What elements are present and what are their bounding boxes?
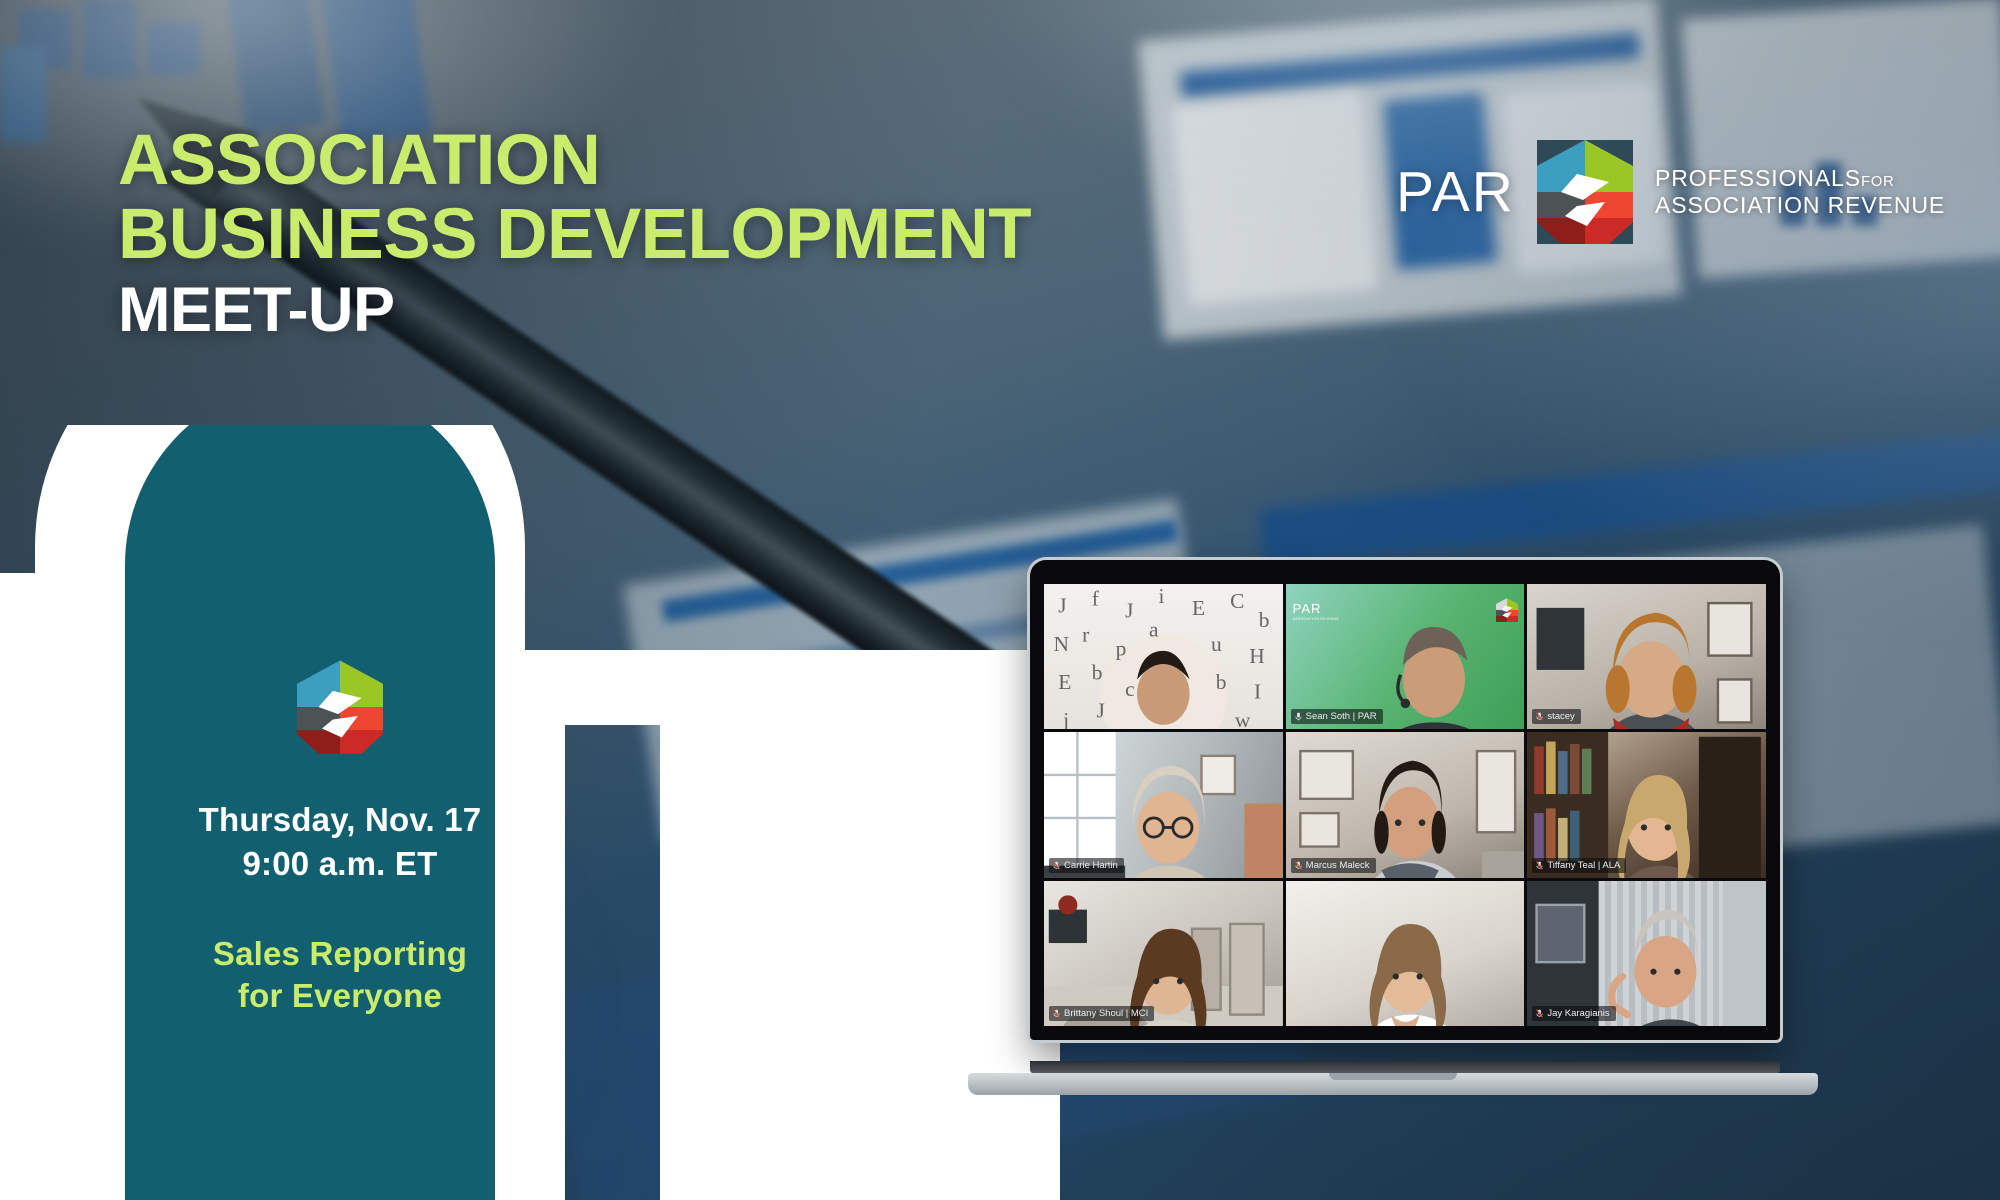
participant-tile[interactable]: Carrie Hartin (1044, 732, 1283, 877)
participant-name: Sean Soth | PAR (1306, 711, 1377, 722)
participant-name-label: Brittany Shoul | MCI (1049, 1006, 1154, 1021)
participant-tile[interactable]: Tiffany Teal | ALA (1527, 732, 1766, 877)
headline-line-3: MEET-UP (118, 279, 1031, 341)
bg-chart-bar (148, 22, 200, 74)
svg-text:J: J (1097, 699, 1105, 723)
bg-spreadsheet-header (1180, 32, 1641, 98)
par-logo-header: PAR PROFESSIONALSFOR ASSOCIATION REVENUE (1396, 140, 1945, 244)
laptop-lid: JfJi ECb Nrpa uH EbcbI jJw Pg (1030, 560, 1780, 1040)
par-tagline: PROFESSIONALSFOR ASSOCIATION REVENUE (1655, 165, 1945, 219)
svg-text:b: b (1092, 660, 1103, 684)
participant-video (1044, 732, 1283, 877)
svg-text:C: C (1230, 589, 1244, 613)
video-meeting-grid: JfJi ECb Nrpa uH EbcbI jJw Pg (1044, 584, 1766, 1026)
laptop-hinge (1030, 1061, 1780, 1073)
participant-name-label: Sean Soth | PAR (1291, 709, 1383, 724)
participant-video (1527, 732, 1766, 877)
svg-text:H: H (1249, 644, 1265, 668)
par-cube-logo-icon (1537, 140, 1633, 244)
participant-tile[interactable]: JfJi ECb Nrpa uH EbcbI jJw Pg (1044, 584, 1283, 729)
participant-name: stacey (1547, 711, 1574, 722)
bg-spreadsheet-header (1259, 430, 2000, 567)
svg-text:J: J (1125, 598, 1133, 622)
bg-chart-bar (84, 0, 136, 78)
laptop-base (968, 1073, 1818, 1095)
microphone-icon (1295, 712, 1302, 721)
participant-name-label: Jay Karagianis (1532, 1006, 1615, 1021)
participant-name: Jay Karagianis (1547, 1008, 1609, 1019)
svg-text:N: N (1054, 632, 1070, 656)
participant-name: Marcus Maleck (1306, 860, 1370, 871)
participant-tile[interactable]: Brittany Shoul | MCI (1044, 881, 1283, 1026)
svg-text:a: a (1149, 618, 1159, 642)
par-wordmark: PAR (1396, 164, 1515, 221)
participant-name-label: Carrie Hartin (1049, 858, 1124, 873)
participant-video (1527, 584, 1766, 729)
svg-text:E: E (1192, 596, 1205, 620)
microphone-muted-icon (1536, 1009, 1543, 1018)
microphone-muted-icon (1536, 712, 1543, 721)
event-time: 9:00 a.m. ET (105, 842, 575, 886)
par-tagline-for: FOR (1861, 173, 1894, 190)
bg-chart-bar (0, 46, 46, 142)
svg-text:J: J (1058, 594, 1066, 618)
microphone-muted-icon (1053, 861, 1060, 870)
participant-tile[interactable] (1286, 881, 1525, 1026)
participant-tile[interactable]: stacey (1527, 584, 1766, 729)
svg-text:u: u (1211, 632, 1222, 656)
microphone-muted-icon (1053, 1009, 1060, 1018)
bg-spreadsheet-col (1172, 90, 1379, 306)
participant-video (1286, 584, 1525, 729)
participant-video (1527, 881, 1766, 1026)
svg-text:f: f (1092, 586, 1100, 610)
event-datetime: Thursday, Nov. 17 9:00 a.m. ET (105, 798, 575, 885)
event-panel: Thursday, Nov. 17 9:00 a.m. ET Sales Rep… (105, 660, 575, 1016)
par-cube-logo-panel (105, 660, 575, 754)
par-tagline-line-2: ASSOCIATION REVENUE (1655, 192, 1945, 219)
svg-text:j: j (1062, 708, 1069, 729)
microphone-muted-icon (1295, 861, 1302, 870)
participant-video: JfJi ECb Nrpa uH EbcbI jJw Pg (1044, 584, 1283, 729)
svg-text:p: p (1116, 637, 1127, 661)
participant-video (1286, 881, 1525, 1026)
laptop-notch (1329, 1073, 1457, 1080)
participant-video (1286, 732, 1525, 877)
headline-line-2: BUSINESS DEVELOPMENT (118, 200, 1031, 270)
svg-text:I: I (1254, 680, 1261, 704)
event-topic-line-2: for Everyone (105, 975, 575, 1017)
svg-text:E: E (1058, 670, 1071, 694)
microphone-muted-icon (1536, 861, 1543, 870)
svg-text:i: i (1159, 584, 1165, 608)
laptop-mockup: JfJi ECb Nrpa uH EbcbI jJw Pg (968, 560, 1818, 1105)
event-date: Thursday, Nov. 17 (105, 798, 575, 842)
participant-tile[interactable]: Marcus Maleck (1286, 732, 1525, 877)
svg-text:w: w (1235, 708, 1251, 729)
participant-tile[interactable]: PAR ASSOCIATION REVENUE (1286, 584, 1525, 729)
participant-name-label: Tiffany Teal | ALA (1532, 858, 1626, 873)
participant-video (1044, 881, 1283, 1026)
participant-name: Carrie Hartin (1064, 860, 1118, 871)
headline: ASSOCIATION BUSINESS DEVELOPMENT MEET-UP (118, 126, 1031, 341)
par-tagline-line-1: PROFESSIONALS (1655, 165, 1861, 191)
svg-text:b: b (1216, 670, 1227, 694)
participant-name-label: stacey (1532, 709, 1580, 724)
event-topic-line-1: Sales Reporting (105, 933, 575, 975)
participant-name: Brittany Shoul | MCI (1064, 1008, 1148, 1019)
svg-text:r: r (1082, 622, 1089, 646)
bg-chart-bar (20, 10, 72, 68)
bg-chart-bar (226, 0, 326, 135)
headline-line-1: ASSOCIATION (118, 126, 1031, 196)
participant-name-label: Marcus Maleck (1291, 858, 1376, 873)
svg-text:b: b (1259, 608, 1270, 632)
svg-text:c: c (1125, 677, 1135, 701)
participant-name: Tiffany Teal | ALA (1547, 860, 1620, 871)
event-topic: Sales Reporting for Everyone (105, 933, 575, 1016)
participant-tile[interactable]: Jay Karagianis (1527, 881, 1766, 1026)
par-cube-logo-icon (297, 660, 383, 754)
